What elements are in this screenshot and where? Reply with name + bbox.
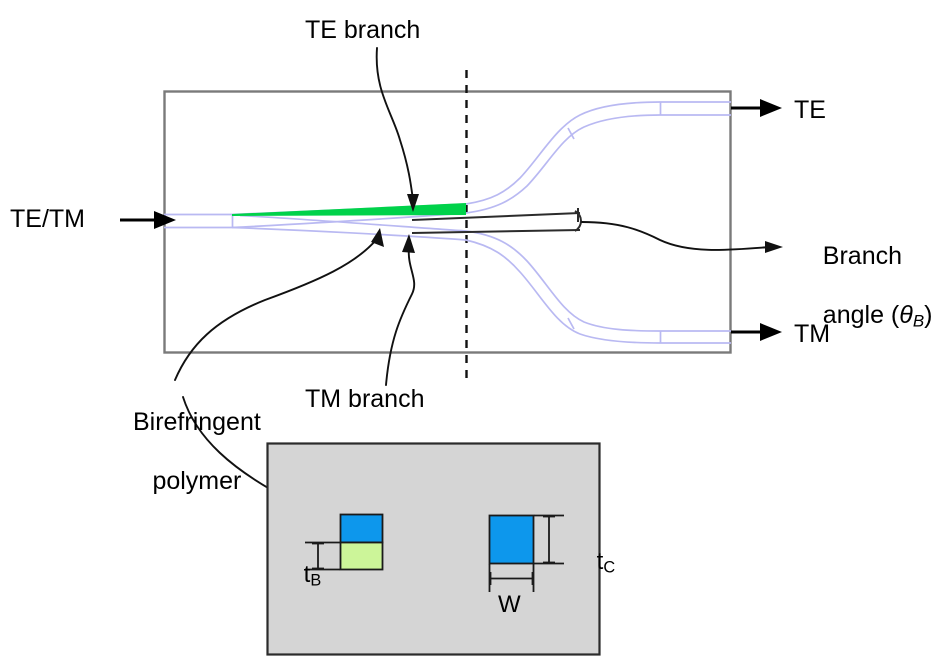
tb-label-subscript: B — [310, 572, 321, 590]
branch-angle-arrowhead — [765, 241, 783, 253]
tc-label-subscript: C — [603, 559, 615, 577]
w-dimension-label: W — [498, 591, 521, 619]
branch-angle-lower-leg — [412, 230, 580, 233]
tm-port-arrowhead — [760, 323, 782, 341]
te-branch-label: TE branch — [305, 16, 420, 46]
branch-angle-label: Branch angle (θB) — [795, 212, 932, 361]
te-output-label: TE — [794, 96, 826, 126]
branch-polymer-layer — [341, 543, 383, 570]
device-frame — [165, 92, 731, 353]
tm-branch-label: TM branch — [305, 385, 424, 415]
tm-branch-leader — [386, 248, 414, 385]
theta-subscript: B — [913, 311, 924, 330]
branch-core-layer — [341, 515, 383, 543]
theta-symbol: θ — [899, 301, 913, 329]
tc-dimension-label: tC — [570, 520, 615, 606]
birefringent-polymer-line2: polymer — [152, 467, 241, 495]
te-arm-outer-rail — [232, 102, 660, 215]
tb-dimension-label: tB — [277, 533, 321, 619]
birefringent-polymer-line1: Birefringent — [133, 408, 261, 436]
te-branch-leader — [377, 48, 413, 200]
branch-angle-leader — [582, 222, 770, 250]
port-arrows — [120, 99, 782, 341]
input-port-label: TE/TM — [10, 205, 85, 235]
branch-angle-line2-post: ) — [924, 301, 932, 329]
figure-canvas: TE branch TE/TM TE TM Branch angle (θB) … — [0, 0, 940, 668]
branch-angle-line2-pre: angle ( — [823, 301, 899, 329]
birefringent-polymer-overlay — [232, 203, 466, 216]
te-port-arrowhead — [760, 99, 782, 117]
birefringent-polymer-label: Birefringent polymer — [88, 378, 278, 526]
channel-core-layer — [490, 516, 534, 564]
branch-angle-line1: Branch — [823, 242, 902, 270]
birefringent-polymer-leader — [175, 240, 376, 380]
